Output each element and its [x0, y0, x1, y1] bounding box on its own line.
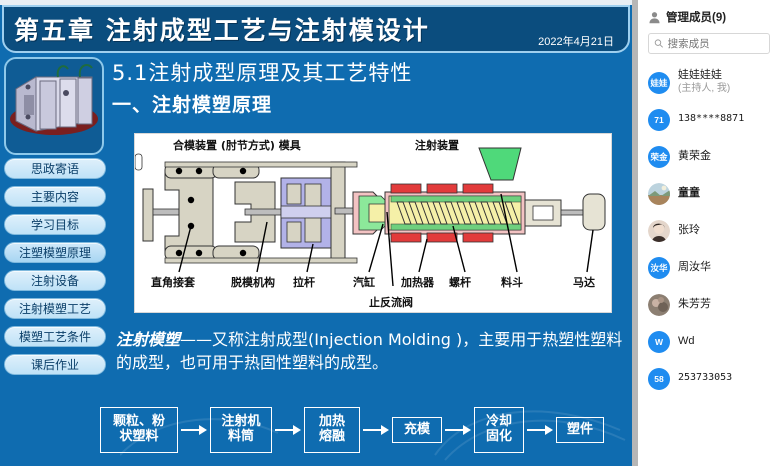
sidebar-item-label: 学习目标 [31, 216, 79, 233]
list-item[interactable]: 张玲 [638, 212, 778, 249]
flow-arrow-2 [363, 425, 389, 435]
avatar-initials: W [655, 337, 663, 347]
member-name: 娃娃娃娃 [678, 69, 730, 83]
diagram-label-6: 料斗 [501, 275, 523, 289]
sidebar-item-1[interactable]: 主要内容 [4, 186, 106, 207]
avatar-initials: 71 [654, 115, 663, 125]
diagram-label-3: 汽缸 [353, 275, 375, 289]
sidebar-item-2[interactable]: 学习目标 [4, 214, 106, 235]
term-label: 注射模塑 [116, 330, 180, 349]
avatar[interactable] [648, 220, 670, 242]
member-name: Wd [678, 335, 695, 349]
sidebar-item-3[interactable]: 注塑模塑原理 [4, 242, 106, 263]
slide-date: 2022年4月21日 [538, 33, 614, 49]
flow-arrow-4 [527, 425, 553, 435]
member-name: 张玲 [678, 224, 700, 238]
sidebar-item-4[interactable]: 注射设备 [4, 270, 106, 291]
injection-molding-machine-icon [6, 59, 102, 153]
diagram-svg: 合模装置 (肘节方式) 模具 注射装置 [135, 134, 611, 312]
slide-nav-buttons: 思政寄语 主要内容 学习目标 注塑模塑原理 注射设备 注射模塑工艺 模塑工艺条件… [4, 158, 106, 382]
flow-box-1: 注射机 料筒 [210, 407, 272, 453]
diagram-top-label-1: 注射装置 [415, 138, 459, 152]
person-icon [648, 11, 661, 24]
flow-box-2: 加热 熔融 [304, 407, 360, 453]
diagram-label-2: 拉杆 [293, 275, 315, 289]
avatar[interactable]: 荣金 [648, 146, 670, 168]
sidebar-item-5[interactable]: 注射模塑工艺 [4, 298, 106, 319]
list-item[interactable]: W Wd [638, 323, 778, 360]
diagram-label-5: 螺杆 [449, 275, 471, 289]
avatar[interactable]: 汝华 [648, 257, 670, 279]
member-name: 黄荣金 [678, 150, 711, 164]
avatar-initials: 58 [654, 374, 663, 384]
sidebar-item-label: 主要内容 [31, 188, 79, 205]
sidebar-item-label: 注射模塑工艺 [19, 300, 91, 317]
sidebar-item-label: 注塑模塑原理 [19, 244, 91, 261]
avatar[interactable]: 娃娃 [648, 72, 670, 94]
avatar-photo-icon [648, 183, 670, 205]
definition-paragraph: 注射模塑——又称注射成型(Injection Molding )，主要用于热塑性… [116, 328, 624, 374]
flow-box-3: 充模 [392, 417, 442, 443]
list-item[interactable]: 汝华 周汝华 [638, 249, 778, 286]
sidebar-item-label: 模塑工艺条件 [19, 328, 91, 345]
member-name: 童童 [678, 187, 700, 201]
injection-molding-diagram: 合模装置 (肘节方式) 模具 注射装置 [134, 133, 612, 313]
avatar-initials: 汝华 [650, 262, 667, 274]
presentation-slide: 第五章 注射成型工艺与注射模设计 2022年4月21日 思政寄语 [0, 0, 632, 466]
slide-title-banner: 第五章 注射成型工艺与注射模设计 2022年4月21日 [2, 5, 630, 53]
diagram-label-7: 马达 [573, 275, 595, 289]
slide-title: 第五章 注射成型工艺与注射模设计 [4, 11, 430, 47]
list-item[interactable]: 朱芳芳 [638, 286, 778, 323]
avatar-initials: 娃娃 [650, 77, 667, 89]
sub-heading: 一、注射模塑原理 [112, 90, 622, 117]
flow-arrow-1 [275, 425, 301, 435]
screen: 第五章 注射成型工艺与注射模设计 2022年4月21日 思政寄语 [0, 0, 778, 466]
member-list: 娃娃 娃娃娃娃 (主持人, 我) 71 138****8871 荣金 黄荣金 [638, 64, 778, 397]
list-item[interactable]: 58 253733053 [638, 360, 778, 397]
sidebar-item-0[interactable]: 思政寄语 [4, 158, 106, 179]
sidebar-item-7[interactable]: 课后作业 [4, 354, 106, 375]
process-flow-chart: 颗粒、粉 状塑料 注射机 料筒 加热 熔融 充模 冷却 固化 塑件 [100, 402, 628, 458]
diagram-label-1: 脱模机构 [231, 275, 275, 289]
member-name: 138****8871 [678, 113, 744, 126]
slide-headings: 5.1注射成型原理及其工艺特性 一、注射模塑原理 [112, 57, 622, 117]
avatar[interactable]: 58 [648, 368, 670, 390]
sidebar-item-label: 课后作业 [31, 356, 79, 373]
flow-box-0: 颗粒、粉 状塑料 [100, 407, 178, 453]
avatar[interactable] [648, 183, 670, 205]
member-role: (主持人, 我) [678, 83, 730, 96]
member-panel-header: 管理成员(9) [638, 0, 778, 31]
avatar-photo-icon [648, 294, 670, 316]
flow-box-5: 塑件 [556, 417, 604, 443]
member-name: 朱芳芳 [678, 298, 711, 312]
avatar[interactable]: 71 [648, 109, 670, 131]
sidebar-item-label: 注射设备 [31, 272, 79, 289]
dash: —— [180, 330, 212, 349]
search-icon [654, 38, 664, 49]
section-heading: 5.1注射成型原理及其工艺特性 [112, 57, 622, 87]
search-input[interactable] [668, 38, 764, 50]
list-item[interactable]: 71 138****8871 [638, 101, 778, 138]
avatar-initials: 荣金 [650, 151, 667, 163]
avatar-photo-icon [648, 220, 670, 242]
list-item[interactable]: 童童 [638, 175, 778, 212]
member-panel-title: 管理成员(9) [666, 9, 726, 25]
member-name: 周汝华 [678, 261, 711, 275]
list-item[interactable]: 荣金 黄荣金 [638, 138, 778, 175]
sidebar-item-label: 思政寄语 [31, 160, 79, 177]
sidebar-item-6[interactable]: 模塑工艺条件 [4, 326, 106, 347]
flow-arrow-0 [181, 425, 207, 435]
list-item[interactable]: 娃娃 娃娃娃娃 (主持人, 我) [638, 64, 778, 101]
flow-arrow-3 [445, 425, 471, 435]
machine-illustration-panel [4, 57, 104, 155]
diagram-label-lower: 止反流阀 [369, 295, 413, 309]
member-name: 253733053 [678, 372, 732, 385]
avatar[interactable] [648, 294, 670, 316]
avatar[interactable]: W [648, 331, 670, 353]
diagram-label-4: 加热器 [400, 275, 435, 289]
member-panel: 管理成员(9) 娃娃 娃娃娃娃 (主持人, 我) 71 [638, 0, 778, 466]
member-search-box[interactable] [648, 33, 770, 54]
flow-box-4: 冷却 固化 [474, 407, 524, 453]
diagram-top-label-0: 合模装置 (肘节方式) 模具 [173, 138, 301, 152]
diagram-label-0: 直角接套 [151, 275, 196, 289]
